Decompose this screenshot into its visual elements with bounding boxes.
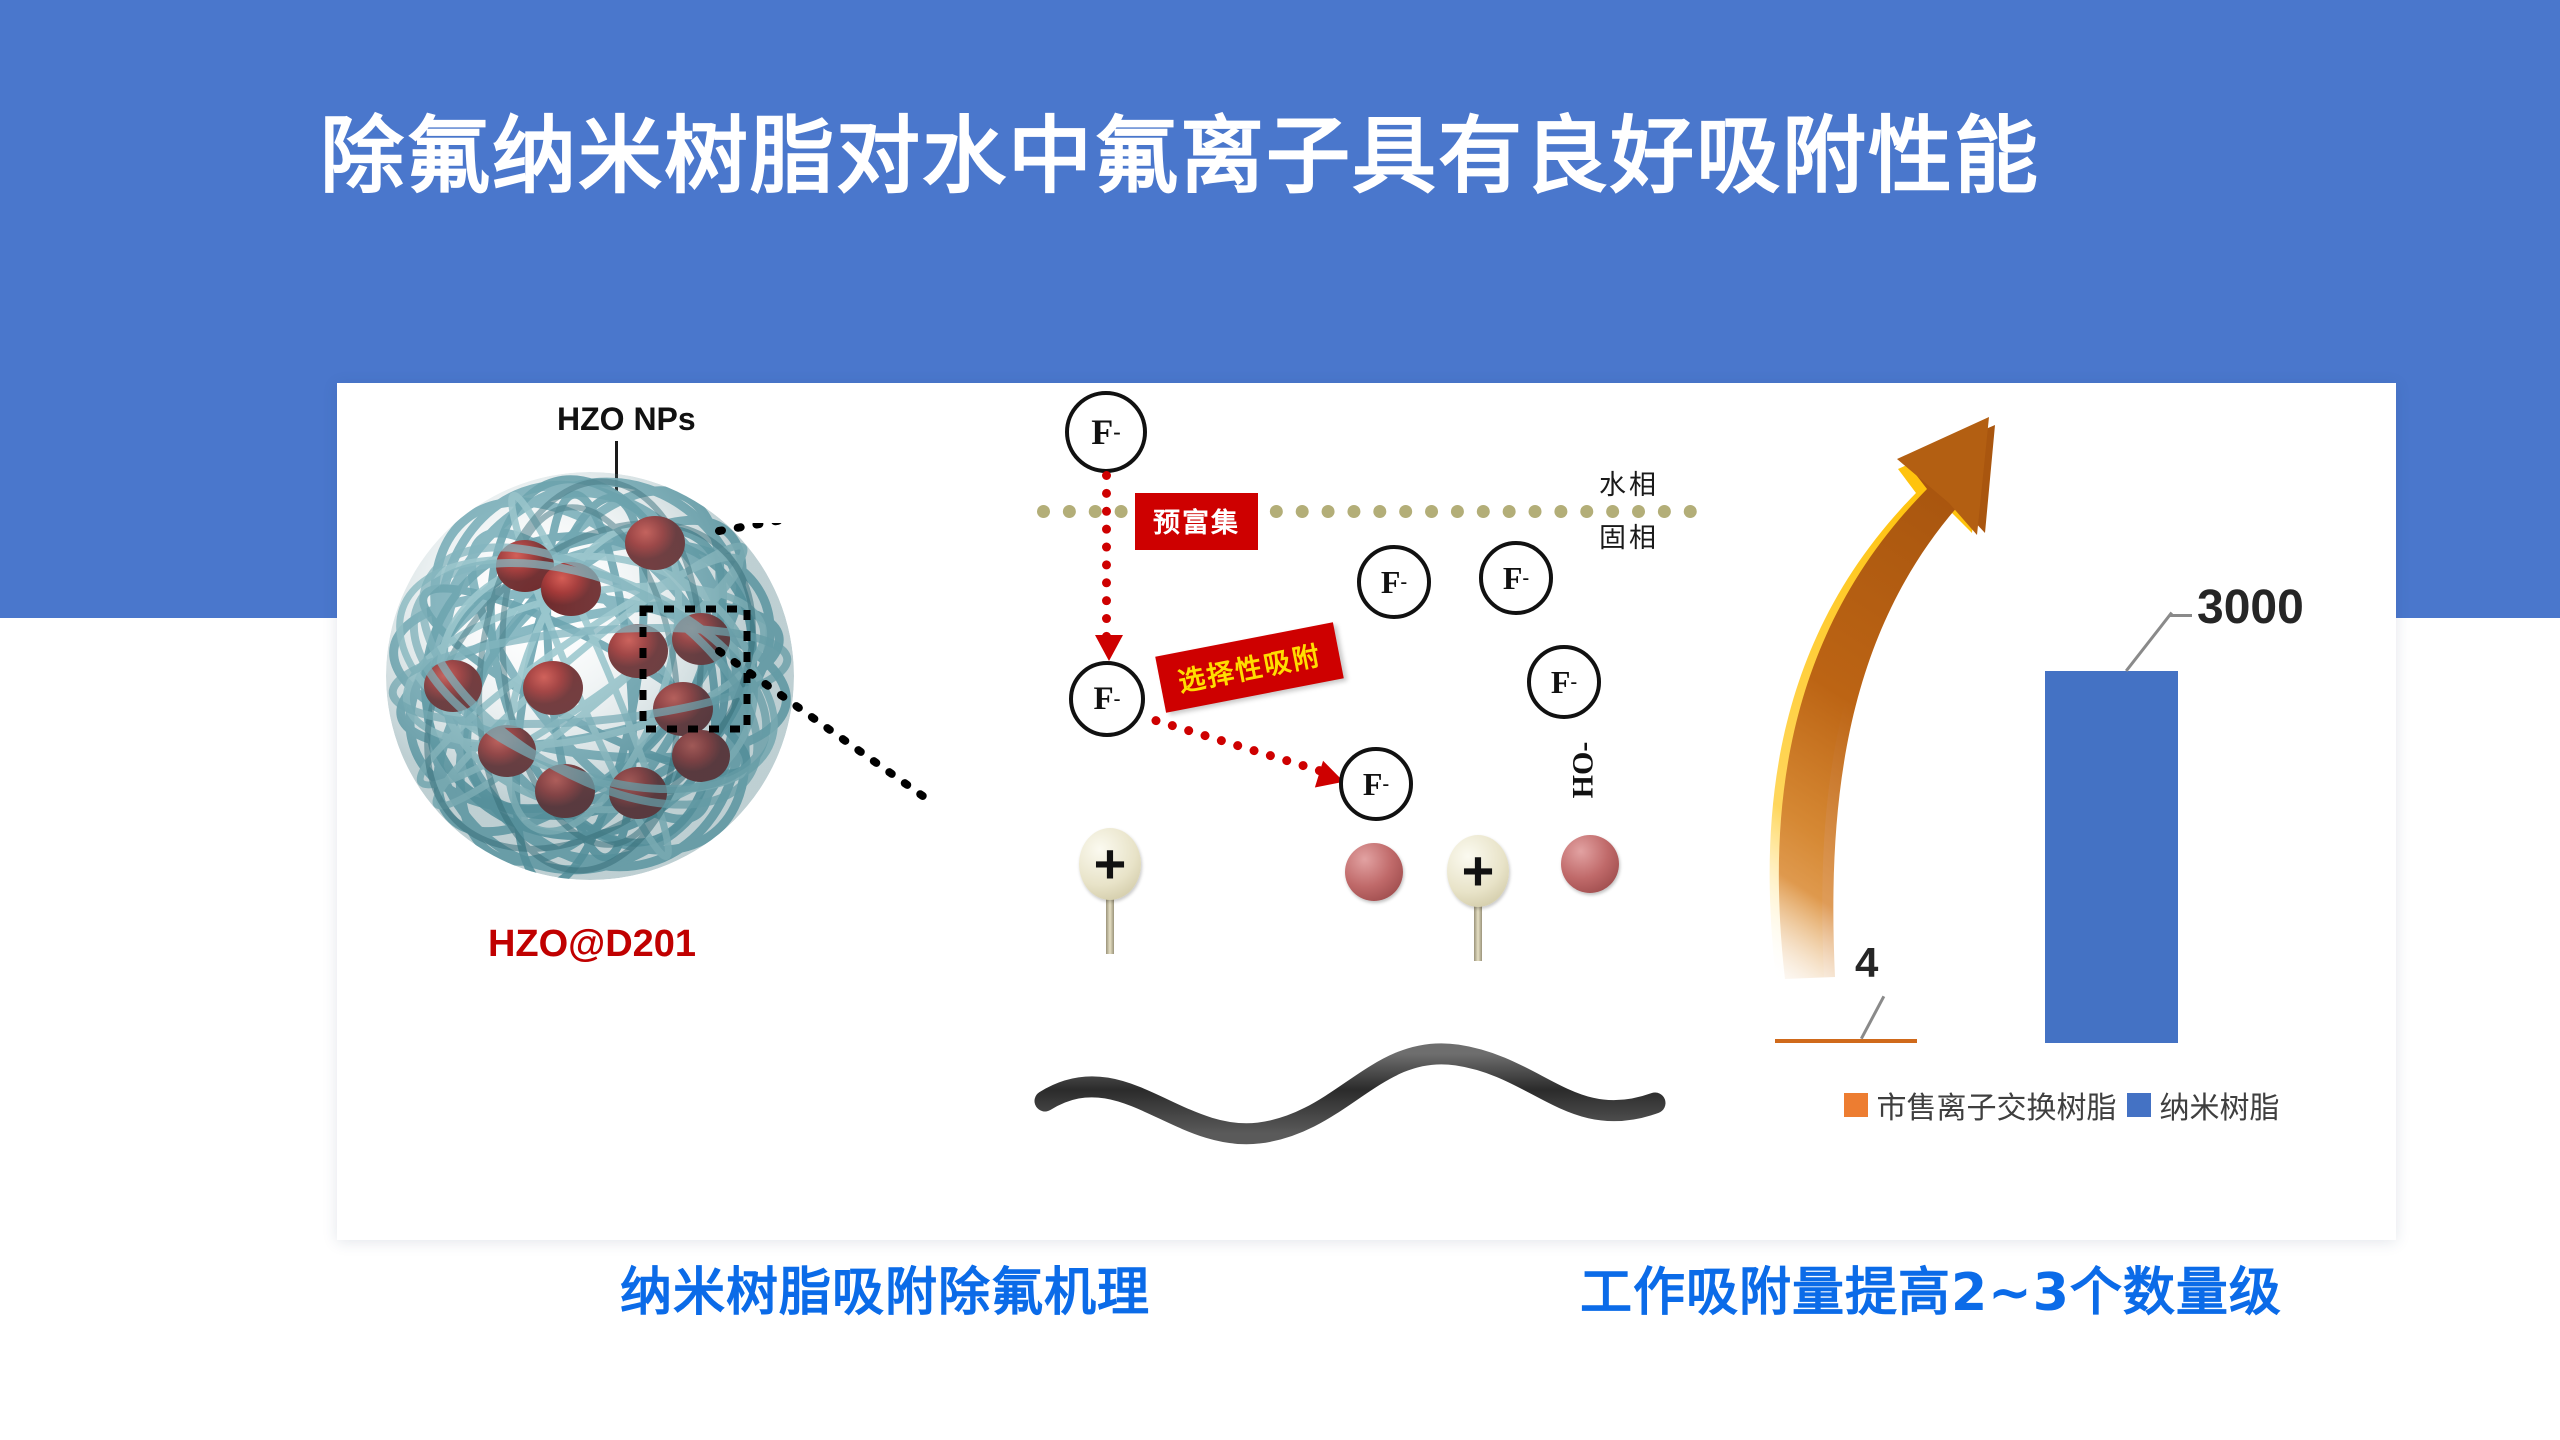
hydroxyl-text: HO — [1566, 752, 1599, 799]
page-title: 除氟纳米树脂对水中氟离子具有良好吸附性能 — [0, 110, 2360, 202]
bar-commercial-resin — [1775, 1039, 1917, 1043]
caption-mechanism: 纳米树脂吸附除氟机理 — [620, 1250, 1150, 1325]
fluoride-ion-solid-a: F- — [1357, 545, 1431, 619]
content-card: HZO NPs — [337, 383, 2396, 1240]
legend-swatch-orange — [1844, 1093, 1868, 1117]
legend-entry-commercial-resin: 市售离子交换树脂 — [1844, 1083, 2117, 1127]
hydroxide-ball — [1561, 835, 1619, 893]
positive-charge-ball: + — [1447, 835, 1509, 907]
ion-label: F — [1091, 411, 1113, 453]
positive-charge-ball: + — [1079, 828, 1141, 900]
legend-label-nano-resin: 纳米树脂 — [2160, 1083, 2280, 1127]
fluoride-ion-aqueous-top: F- — [1065, 391, 1147, 473]
preconcentration-arrow — [1102, 471, 1111, 641]
site-stem — [1106, 896, 1114, 954]
polymer-backbone — [1027, 983, 1727, 1203]
ion-label: F — [1381, 564, 1401, 601]
ion-label: F — [1551, 664, 1571, 701]
adsorption-mechanism-panel: 水相 固相 F- 预富集 F- F- F- — [1027, 383, 1727, 1240]
arrowhead — [1095, 635, 1123, 661]
chart-plot-area: 4 3000 — [1727, 443, 2396, 1043]
chart-legend: 市售离子交换树脂 纳米树脂 — [1727, 1083, 2396, 1127]
fluoride-ion-approaching: F- — [1069, 661, 1145, 737]
ion-label: F — [1363, 766, 1383, 803]
value-label-nano-resin: 3000 — [2197, 580, 2304, 635]
zoom-leader-lines — [627, 523, 957, 863]
ion-label: F — [1094, 681, 1114, 718]
fluoride-ion-solid-c: F- — [1527, 645, 1601, 719]
hydroxyl-label: HO- — [1566, 742, 1600, 799]
selective-adsorption-arrow — [1150, 715, 1325, 776]
fluoride-ion-adsorbed: F- — [1339, 747, 1413, 821]
plus-sign: + — [1094, 842, 1127, 887]
site-stem — [1474, 903, 1482, 961]
legend-swatch-blue — [2127, 1093, 2151, 1117]
caption-capacity: 工作吸附量提高2~3个数量级 — [1580, 1250, 2282, 1325]
legend-label-commercial-resin: 市售离子交换树脂 — [1877, 1083, 2117, 1127]
selective-adsorption-tag: 选择性吸附 — [1155, 622, 1344, 712]
header-right-column — [2396, 0, 2560, 618]
slide-root: 除氟纳米树脂对水中氟离子具有良好吸附性能 HZO NPs — [0, 0, 2560, 1440]
nano-resin-illustration-panel: HZO NPs — [337, 383, 1037, 1240]
fluoride-ion-solid-b: F- — [1479, 541, 1553, 615]
hydroxide-ball — [1345, 843, 1403, 901]
legend-entry-nano-resin: 纳米树脂 — [2127, 1083, 2280, 1127]
value-leader-line-3000-tail — [2170, 614, 2192, 617]
hydroxyl-charge: - — [1566, 742, 1599, 752]
bar-nano-resin — [2045, 671, 2178, 1043]
preconcentration-tag: 预富集 — [1135, 493, 1258, 550]
ion-label: F — [1503, 560, 1523, 597]
solid-phase-label: 固相 — [1599, 516, 1659, 555]
aqueous-phase-label: 水相 — [1599, 463, 1659, 502]
hzo-nps-label: HZO NPs — [557, 401, 696, 438]
value-label-commercial-resin: 4 — [1855, 939, 1878, 987]
adsorption-capacity-chart-panel: 4 3000 市售离子交换树脂 纳米树脂 — [1727, 383, 2396, 1240]
resin-caption: HZO@D201 — [337, 923, 847, 966]
plus-sign: + — [1462, 849, 1495, 894]
